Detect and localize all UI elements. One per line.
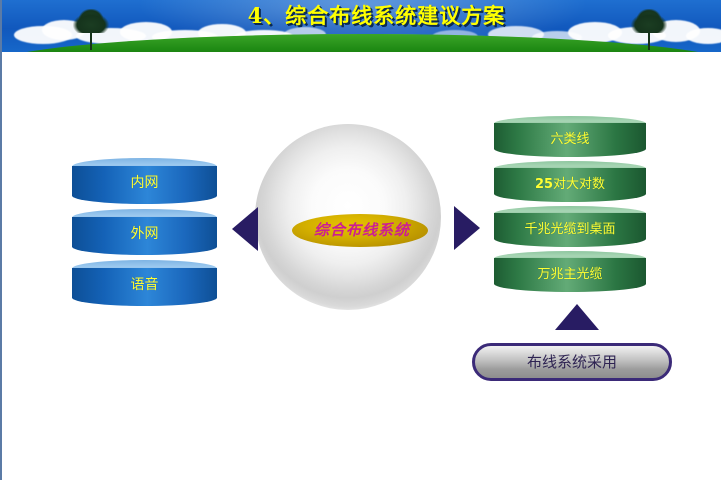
triangle-right-icon	[454, 206, 480, 250]
cylinder-label-emphasis: 25	[535, 177, 553, 192]
cylinder-item[interactable]: 25对大对数	[494, 161, 646, 206]
sphere-label: 综合布线系统	[287, 219, 437, 240]
cylinder-label: 千兆光缆到桌面	[494, 218, 646, 237]
cylinder-label: 外网	[72, 223, 217, 243]
slide-canvas: 4、综合布线系统建议方案 内网 外网 语音 综合布线系统 六类线	[0, 0, 721, 480]
bottom-callout[interactable]: 布线系统采用	[472, 343, 672, 381]
triangle-up-icon	[555, 304, 599, 330]
cylinder-item[interactable]: 内网	[72, 158, 217, 208]
cylinder-label: 语音	[72, 274, 217, 294]
network-sources-stack: 内网 外网 语音	[72, 158, 217, 311]
cabling-media-stack: 六类线 25对大对数 千兆光缆到桌面 万兆主光缆	[494, 116, 646, 296]
triangle-left-icon	[232, 207, 258, 251]
cylinder-label: 内网	[72, 172, 217, 192]
cylinder-label: 万兆主光缆	[494, 263, 646, 282]
cylinder-label: 六类线	[494, 128, 646, 147]
cylinder-item[interactable]: 万兆主光缆	[494, 251, 646, 296]
cylinder-label: 25对大对数	[494, 173, 646, 192]
slide-header-banner: 4、综合布线系统建议方案	[2, 0, 721, 52]
cylinder-item[interactable]: 外网	[72, 209, 217, 259]
cylinder-item[interactable]: 千兆光缆到桌面	[494, 206, 646, 251]
cylinder-item[interactable]: 语音	[72, 260, 217, 310]
page-title: 4、综合布线系统建议方案	[2, 0, 721, 34]
cylinder-item[interactable]: 六类线	[494, 116, 646, 161]
